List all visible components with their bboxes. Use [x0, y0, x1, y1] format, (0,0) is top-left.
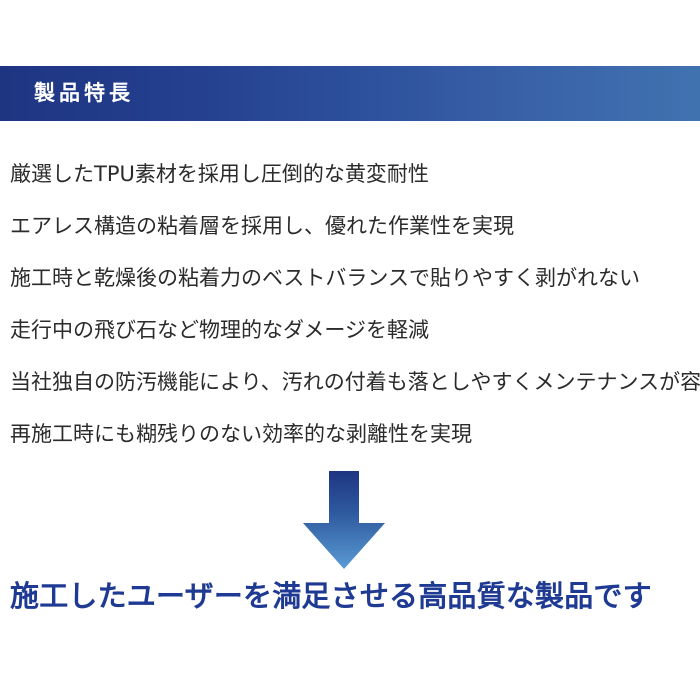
feature-item-text: 走行中の飛び石など物理的なダメージを軽減	[10, 320, 429, 341]
feature-item-text: 当社独自の防汚機能により、汚れの付着も落としやすくメンテナンスが容易	[10, 372, 700, 393]
feature-item: エアレス構造の粘着層を採用し、優れた作業性を実現	[10, 200, 700, 252]
feature-item: 施工時と乾燥後の粘着力のベストバランスで貼りやすく剥がれない	[10, 252, 700, 304]
feature-item: 走行中の飛び石など物理的なダメージを軽減	[10, 304, 700, 356]
feature-item-text: 施工時と乾燥後の粘着力のベストバランスで貼りやすく剥がれない	[10, 268, 640, 289]
feature-item-text: 厳選したTPU素材を採用し圧倒的な黄変耐性	[10, 164, 429, 185]
feature-list: 厳選したTPU素材を採用し圧倒的な黄変耐性 エアレス構造の粘着層を採用し、優れた…	[10, 148, 700, 460]
feature-item: 当社独自の防汚機能により、汚れの付着も落としやすくメンテナンスが容易	[10, 356, 700, 408]
arrow-down-icon	[303, 471, 385, 569]
feature-item-text: エアレス構造の粘着層を採用し、優れた作業性を実現	[10, 216, 514, 237]
feature-item: 厳選したTPU素材を採用し圧倒的な黄変耐性	[10, 148, 700, 200]
closing-headline: 施工したユーザーを満足させる高品質な製品です	[10, 582, 700, 611]
feature-item: 再施工時にも糊残りのない効率的な剥離性を実現	[10, 408, 700, 460]
section-header-bar: 製品特長	[0, 66, 700, 121]
section-header-title: 製品特長	[34, 83, 134, 104]
feature-item-text: 再施工時にも糊残りのない効率的な剥離性を実現	[10, 424, 472, 445]
product-features-panel: 製品特長 厳選したTPU素材を採用し圧倒的な黄変耐性 エアレス構造の粘着層を採用…	[0, 0, 700, 700]
